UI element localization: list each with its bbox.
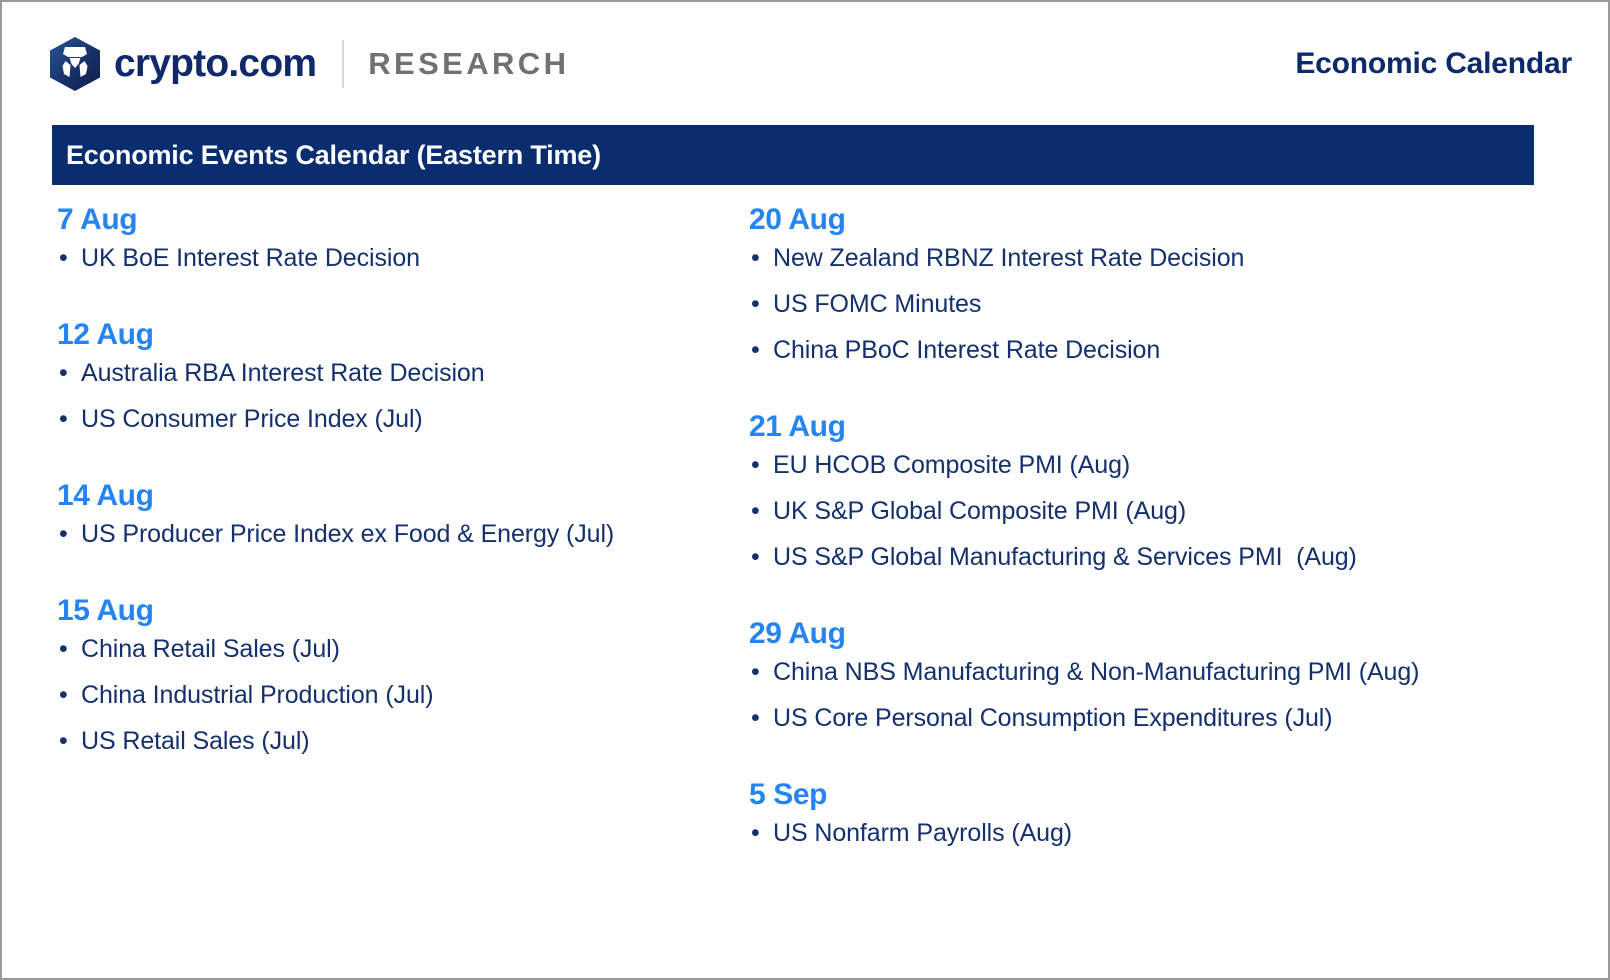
- economic-calendar-page: crypto.com RESEARCH Economic Calendar Ec…: [0, 0, 1610, 980]
- date-group: 20 AugNew Zealand RBNZ Interest Rate Dec…: [749, 203, 1572, 364]
- date-group: 15 AugChina Retail Sales (Jul)China Indu…: [57, 594, 692, 755]
- event-item: US Producer Price Index ex Food & Energy…: [57, 520, 692, 548]
- page-header: crypto.com RESEARCH Economic Calendar: [2, 2, 1608, 125]
- event-item: UK S&P Global Composite PMI (Aug): [749, 497, 1572, 525]
- brand-lockup: crypto.com RESEARCH: [50, 37, 569, 91]
- page-title: Economic Calendar: [1295, 47, 1572, 81]
- calendar-column-right: 20 AugNew Zealand RBNZ Interest Rate Dec…: [692, 185, 1572, 978]
- date-group: 14 AugUS Producer Price Index ex Food & …: [57, 479, 692, 548]
- date-heading: 29 Aug: [749, 617, 1572, 650]
- date-heading: 15 Aug: [57, 594, 692, 627]
- event-item: US FOMC Minutes: [749, 290, 1572, 318]
- event-list: Australia RBA Interest Rate DecisionUS C…: [57, 359, 692, 433]
- event-item: US Retail Sales (Jul): [57, 727, 692, 755]
- brand-divider: [342, 40, 344, 88]
- date-group: 5 SepUS Nonfarm Payrolls (Aug): [749, 778, 1572, 847]
- event-item: China Retail Sales (Jul): [57, 635, 692, 663]
- date-heading: 7 Aug: [57, 203, 692, 236]
- event-item: EU HCOB Composite PMI (Aug): [749, 451, 1572, 479]
- event-item: US Consumer Price Index (Jul): [57, 405, 692, 433]
- date-heading: 12 Aug: [57, 318, 692, 351]
- event-list: New Zealand RBNZ Interest Rate DecisionU…: [749, 244, 1572, 364]
- calendar-columns: 7 AugUK BoE Interest Rate Decision12 Aug…: [2, 185, 1608, 978]
- event-list: US Nonfarm Payrolls (Aug): [749, 819, 1572, 847]
- date-heading: 14 Aug: [57, 479, 692, 512]
- event-list: EU HCOB Composite PMI (Aug)UK S&P Global…: [749, 451, 1572, 571]
- date-group: 21 AugEU HCOB Composite PMI (Aug)UK S&P …: [749, 410, 1572, 571]
- crypto-com-wordmark: crypto.com: [114, 44, 316, 83]
- date-heading: 21 Aug: [749, 410, 1572, 443]
- event-item: UK BoE Interest Rate Decision: [57, 244, 692, 272]
- event-item: China Industrial Production (Jul): [57, 681, 692, 709]
- calendar-banner: Economic Events Calendar (Eastern Time): [52, 125, 1534, 185]
- crypto-com-hexagon-logo-icon: [50, 37, 100, 91]
- event-item: US S&P Global Manufacturing & Services P…: [749, 543, 1572, 571]
- event-item: China PBoC Interest Rate Decision: [749, 336, 1572, 364]
- event-item: US Nonfarm Payrolls (Aug): [749, 819, 1572, 847]
- date-group: 7 AugUK BoE Interest Rate Decision: [57, 203, 692, 272]
- event-item: US Core Personal Consumption Expenditure…: [749, 704, 1572, 732]
- event-list: China NBS Manufacturing & Non-Manufactur…: [749, 658, 1572, 732]
- calendar-banner-title: Economic Events Calendar (Eastern Time): [52, 140, 601, 171]
- research-label: RESEARCH: [368, 48, 569, 79]
- event-item: China NBS Manufacturing & Non-Manufactur…: [749, 658, 1572, 686]
- event-item: Australia RBA Interest Rate Decision: [57, 359, 692, 387]
- date-heading: 5 Sep: [749, 778, 1572, 811]
- date-heading: 20 Aug: [749, 203, 1572, 236]
- event-list: China Retail Sales (Jul)China Industrial…: [57, 635, 692, 755]
- event-item: New Zealand RBNZ Interest Rate Decision: [749, 244, 1572, 272]
- event-list: US Producer Price Index ex Food & Energy…: [57, 520, 692, 548]
- date-group: 29 AugChina NBS Manufacturing & Non-Manu…: [749, 617, 1572, 732]
- calendar-column-left: 7 AugUK BoE Interest Rate Decision12 Aug…: [2, 185, 692, 978]
- date-group: 12 AugAustralia RBA Interest Rate Decisi…: [57, 318, 692, 433]
- event-list: UK BoE Interest Rate Decision: [57, 244, 692, 272]
